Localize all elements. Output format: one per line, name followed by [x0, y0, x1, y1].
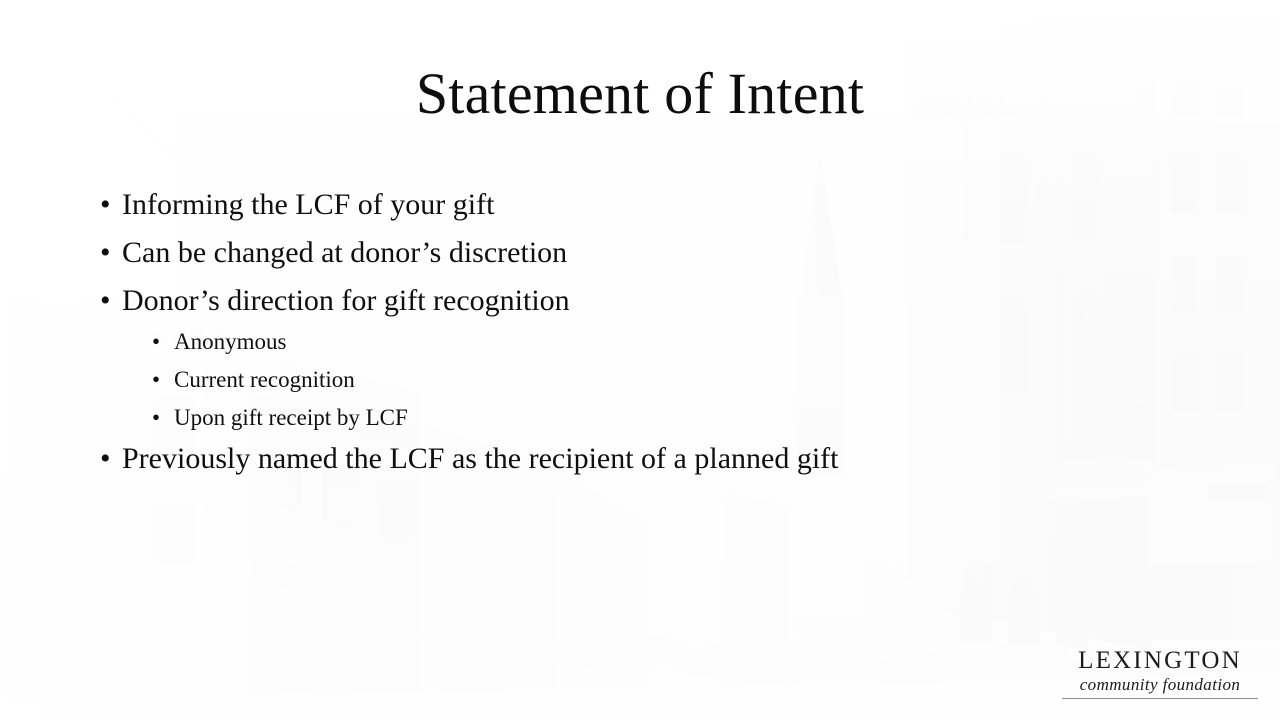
bullet-text: Donor’s direction for gift recognition — [122, 284, 570, 317]
sub-bullet-text: Upon gift receipt by LCF — [174, 405, 408, 430]
bullet-item: • Can be changed at donor’s discretion — [96, 238, 1096, 268]
logo-secondary-text: community foundation — [1062, 676, 1258, 695]
sub-bullet-point-icon: • — [152, 406, 160, 429]
bullet-item: • Previously named the LCF as the recipi… — [96, 444, 1096, 474]
sub-bullet-item: • Anonymous — [150, 330, 1096, 353]
presentation-slide: HOTEL CMAY SOLOMON — [0, 0, 1280, 720]
sub-bullet-text: Current recognition — [174, 367, 355, 392]
bullet-item: • Informing the LCF of your gift — [96, 190, 1096, 220]
bullet-item: • Donor’s direction for gift recognition… — [96, 286, 1096, 429]
bullet-text: Informing the LCF of your gift — [122, 188, 494, 221]
sub-bullet-text: Anonymous — [174, 329, 286, 354]
bullet-point-icon: • — [100, 190, 111, 220]
bullet-point-icon: • — [100, 238, 111, 268]
sub-bullet-list: • Anonymous • Current recognition • Upon… — [122, 330, 1096, 429]
bullet-list: • Informing the LCF of your gift • Can b… — [96, 190, 1096, 474]
logo-underline-rule — [1062, 698, 1258, 699]
bullet-text: Previously named the LCF as the recipien… — [122, 442, 838, 475]
sub-bullet-item: • Upon gift receipt by LCF — [150, 406, 1096, 429]
sub-bullet-item: • Current recognition — [150, 368, 1096, 391]
bullet-text: Can be changed at donor’s discretion — [122, 236, 567, 269]
logo-primary-text: LEXINGTON — [1062, 648, 1258, 674]
sub-bullet-point-icon: • — [152, 330, 160, 353]
bullet-point-icon: • — [100, 286, 111, 316]
slide-content: Statement of Intent • Informing the LCF … — [0, 0, 1280, 720]
sub-bullet-point-icon: • — [152, 368, 160, 391]
lexington-community-foundation-logo: LEXINGTON community foundation — [1062, 648, 1258, 699]
slide-body: • Informing the LCF of your gift • Can b… — [96, 190, 1096, 474]
bullet-point-icon: • — [100, 444, 111, 474]
slide-title: Statement of Intent — [0, 62, 1280, 127]
